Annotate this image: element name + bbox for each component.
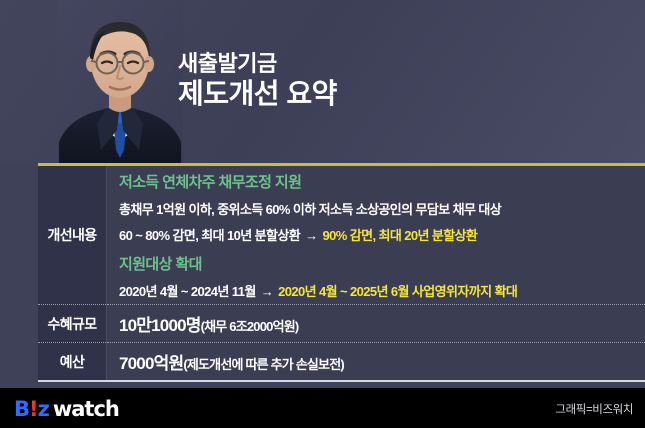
title-line-1: 새출발기금	[178, 52, 337, 75]
portrait-photo	[57, 0, 183, 164]
detail-eligibility: 총채무 1억원 이하, 중위소득 60% 이하 저소득 소상공인의 무담보 채무…	[119, 196, 645, 222]
row-label-budget: 예산	[38, 343, 107, 381]
budget-main: 7000억원	[119, 354, 183, 373]
page-title: 새출발기금 제도개선 요약	[178, 52, 337, 108]
logo-letter-b: B	[14, 397, 29, 421]
subheading-target-expansion: 지원대상 확대	[119, 248, 645, 278]
portrait-illustration	[57, 0, 183, 164]
row-value-beneficiaries: 10만1000명(채무 6조2000억원)	[107, 305, 645, 343]
detail-reduction-change: 60 ~ 80% 감면, 최대 10년 분할상환 → 90% 감면, 최대 20…	[119, 222, 645, 248]
summary-table: 개선내용 저소득 연체차주 채무조정 지원 총채무 1억원 이하, 중위소득 6…	[38, 166, 645, 380]
summary-table-container: 개선내용 저소득 연체차주 채무조정 지원 총채무 1억원 이하, 중위소득 6…	[38, 163, 645, 409]
header-banner: 새출발기금 제도개선 요약	[0, 0, 645, 164]
logo-exclamation-icon: !	[29, 397, 38, 421]
bizwatch-logo[interactable]: B!zwatch	[14, 397, 119, 421]
period-before: 2020년 4월 ~ 2024년 11월	[119, 284, 256, 299]
period-after: 2020년 4월 ~ 2025년 6월 사업영위자까지 확대	[278, 284, 517, 299]
budget-sub: (제도개선에 따른 추가 손실보전)	[183, 357, 344, 372]
graphic-credit: 그래픽=비즈워치	[555, 401, 633, 417]
budget-value: 7000억원(제도개선에 따른 추가 손실보전)	[119, 343, 645, 380]
logo-letter-z: z	[38, 397, 49, 421]
logo-word-watch: watch	[53, 397, 119, 421]
reduction-before: 60 ~ 80% 감면, 최대 10년 분할상환	[119, 228, 300, 243]
table-row: 개선내용 저소득 연체차주 채무조정 지원 총채무 1억원 이하, 중위소득 6…	[38, 166, 645, 305]
title-line-2: 제도개선 요약	[178, 79, 337, 108]
arrow-icon: →	[303, 228, 319, 243]
infographic-root: 새출발기금 제도개선 요약 개선내용 저소득 연체차주 채무조정 지원 총채무 …	[0, 0, 645, 428]
beneficiaries-value: 10만1000명(채무 6조2000억원)	[119, 305, 645, 342]
table-row: 예산 7000억원(제도개선에 따른 추가 손실보전)	[38, 343, 645, 381]
footer-bar: B!zwatch 그래픽=비즈워치	[0, 388, 645, 428]
reduction-after: 90% 감면, 최대 20년 분할상환	[323, 228, 478, 243]
row-label-beneficiaries: 수혜규모	[38, 305, 107, 343]
row-value-improvements: 저소득 연체차주 채무조정 지원 총채무 1억원 이하, 중위소득 60% 이하…	[107, 166, 645, 305]
detail-period-change: 2020년 4월 ~ 2024년 11월 → 2020년 4월 ~ 2025년 …	[119, 278, 645, 304]
arrow-icon: →	[259, 284, 275, 299]
row-value-budget: 7000억원(제도개선에 따른 추가 손실보전)	[107, 343, 645, 381]
table-row: 수혜규모 10만1000명(채무 6조2000억원)	[38, 305, 645, 343]
beneficiaries-main: 10만1000명	[119, 316, 201, 335]
subheading-debt-adjustment: 저소득 연체차주 채무조정 지원	[119, 166, 645, 196]
row-label-improvements: 개선내용	[38, 166, 107, 305]
beneficiaries-sub: (채무 6조2000억원)	[201, 319, 299, 334]
